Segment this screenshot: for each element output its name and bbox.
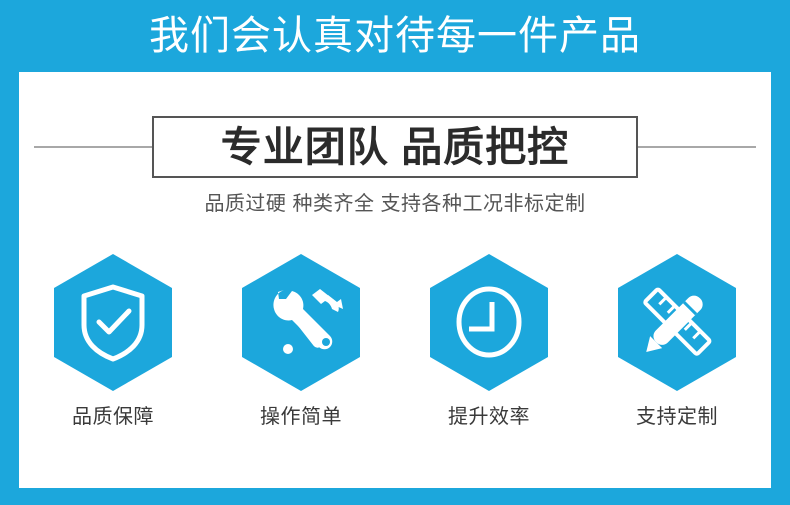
- main-title: 专业团队 品质把控: [221, 127, 569, 168]
- content-panel: 专业团队 品质把控 品质过硬 种类齐全 支持各种工况非标定制 品质保障: [19, 72, 771, 488]
- feature-label: 支持定制: [636, 407, 718, 427]
- rule-line-right: [637, 146, 756, 148]
- header-title: 我们会认真对待每一件产品: [149, 16, 641, 56]
- header-band: 我们会认真对待每一件产品: [0, 0, 790, 72]
- feature-row: 品质保障: [19, 254, 771, 454]
- hexagon-badge: [430, 254, 548, 391]
- feature-label: 操作简单: [260, 407, 342, 427]
- feature-label: 提升效率: [448, 407, 530, 427]
- hexagon-badge: [54, 254, 172, 391]
- title-block: 专业团队 品质把控: [19, 116, 771, 178]
- wrench-hammer-icon: [242, 254, 360, 391]
- ruler-pencil-icon: [618, 254, 736, 391]
- feature-item-quality: 品质保障: [37, 254, 189, 427]
- hexagon-badge: [618, 254, 736, 391]
- feature-label: 品质保障: [72, 407, 154, 427]
- clock-icon: [430, 254, 548, 391]
- feature-item-customization: 支持定制: [601, 254, 753, 427]
- feature-item-easy-operation: 操作简单: [225, 254, 377, 427]
- feature-item-efficiency: 提升效率: [413, 254, 565, 427]
- promo-banner: 我们会认真对待每一件产品 专业团队 品质把控 品质过硬 种类齐全 支持各种工况非…: [0, 0, 790, 505]
- rule-line-left: [34, 146, 153, 148]
- shield-check-icon: [54, 254, 172, 391]
- subtitle: 品质过硬 种类齐全 支持各种工况非标定制: [19, 194, 771, 214]
- hexagon-badge: [242, 254, 360, 391]
- title-box: 专业团队 品质把控: [152, 116, 638, 178]
